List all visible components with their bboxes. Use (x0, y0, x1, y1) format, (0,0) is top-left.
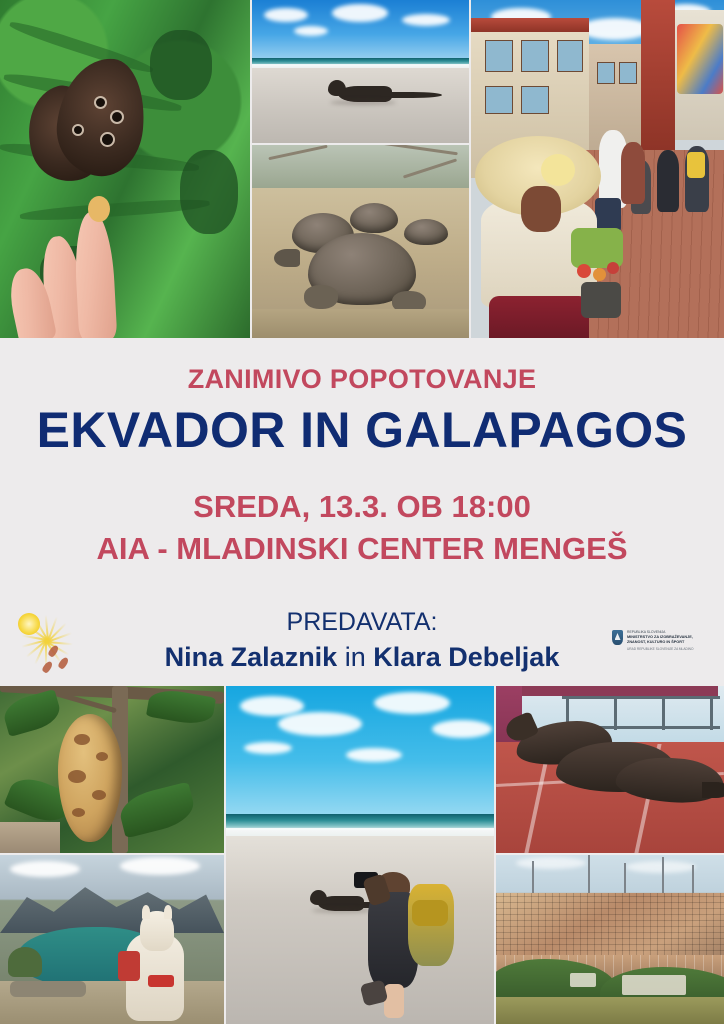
photo-butterfly-on-monstera-leaf: Blue morpho butterfly resting on a monst… (0, 0, 250, 338)
photo-iguana-and-photographer-on-beach: Traveller photographing a marine iguana … (226, 686, 494, 1024)
ministry-line-4: URAD REPUBLIKE SLOVENIJE ZA MLADINO (627, 647, 693, 652)
poster-kicker: ZANIMIVO POPOTOVANJE (0, 338, 724, 395)
sun-icon (18, 613, 40, 635)
presenter-name-one: Nina Zalaznik (165, 642, 338, 672)
ministry-line-3: ZNANOST, KULTURO IN ŠPORT (627, 640, 693, 646)
photo-guayaquil-cityscape: Colourful hillside city rooftops (496, 855, 724, 1024)
photo-collage-top: Blue morpho butterfly resting on a monst… (0, 0, 724, 338)
aia-sun-footprints-logo (10, 605, 82, 677)
photo-giant-tortoises: Galapagos giant tortoises on dry ground (252, 145, 469, 338)
event-venue: AIA - MLADINSKI CENTER MENGEŠ (0, 529, 724, 569)
event-poster: Blue morpho butterfly resting on a monst… (0, 0, 724, 1024)
photo-collage-bottom: Ripening cacao pod hanging from a tree (0, 686, 724, 1024)
slovenia-crest-icon (612, 630, 623, 645)
presenter-name-two: Klara Debeljak (373, 642, 559, 672)
photo-market-street-vendors: Street market with vendors and a woman i… (471, 0, 724, 338)
ministry-logo: REPUBLIKA SLOVENIJA MINISTRSTVO ZA IZOBR… (612, 630, 716, 652)
event-datetime: SREDA, 13.3. OB 18:00 (0, 487, 724, 527)
poster-title: EKVADOR IN GALAPAGOS (0, 403, 724, 457)
photo-cacao-pod-on-tree: Ripening cacao pod hanging from a tree (0, 686, 224, 853)
photo-marine-iguana-on-beach: Marine iguana on a white sand beach unde… (252, 0, 469, 143)
photo-llama-at-quilotoa-lagoon: Llama in front of a crater lagoon in the… (0, 855, 224, 1024)
footprint-icon (41, 660, 54, 674)
presenters-joiner: in (337, 642, 373, 672)
photo-sea-lions-on-deck: Sea lions sleeping on a red wooden deck (496, 686, 724, 853)
